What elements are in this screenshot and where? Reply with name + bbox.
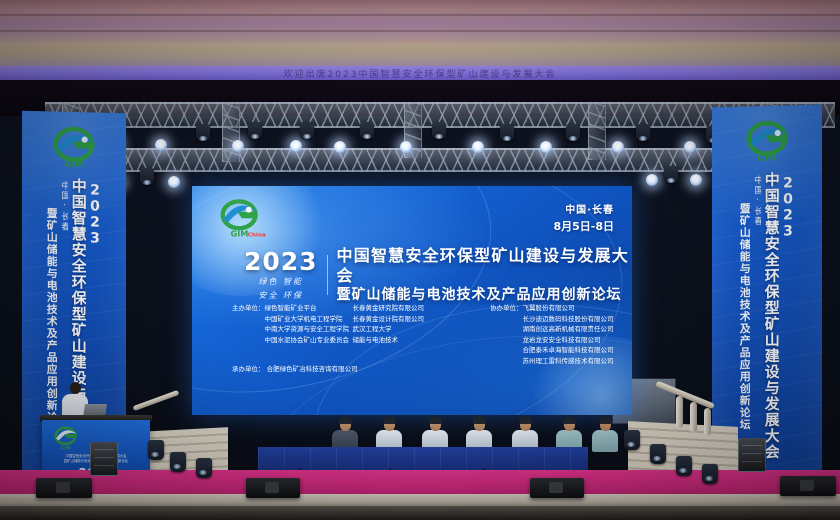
co-item: 长沙迪迈数码科技股份有限公司 [523,314,614,325]
stage-spotlight [400,141,412,153]
stage-spotlight [472,141,484,153]
undertaker-label: 承办单位： [232,365,265,373]
svg-text:GIM: GIM [65,160,84,170]
stage-spotlight [232,140,244,152]
gim-china-logo-icon: GIM China [214,198,266,242]
person-head [520,419,531,431]
undertaker-value: 合肥绿色矿冶科技咨询有限公司 [267,365,358,373]
host-row: 主办单位： 中国水泥协会矿山专业委员会 储能与电池技术 [232,335,439,346]
screen-year-motto-2: 安全 环保 [244,290,318,302]
co-row: 协办单位： 龙岩龙安安全科技有限公司 [490,335,614,346]
stage-spotlight [334,141,346,153]
ceiling-beam [0,46,840,68]
co-item: 飞翼股份有限公司 [523,303,575,314]
host-col1-item: 中国水泥协会矿山专业委员会 [265,335,353,346]
moving-head-light [664,166,678,183]
host-label: 主办单位： [232,303,265,314]
floor-moving-light [650,444,666,464]
moving-head-light [636,124,650,141]
panel-person [592,419,618,452]
stage-spotlight [168,176,180,188]
ceiling-molding-line [0,30,840,32]
person-head [340,419,351,431]
banner-right-year: 2023 [781,171,795,517]
title-divider [327,255,328,295]
floor-moving-light [148,440,164,460]
stage-spotlight [540,141,552,153]
stage-front-shadow [0,506,840,520]
gim-china-logo-icon: GIM [50,426,82,452]
undertaker-row: 承办单位： 合肥绿色矿冶科技咨询有限公司 [232,364,358,375]
floor-monitor-speaker [36,478,92,498]
equipment-road-case [90,442,118,476]
baluster-post [676,396,683,428]
screen-title-line2: 暨矿山储能与电池技术及产品应用创新论坛 [337,286,632,304]
stage-spotlight [646,174,658,186]
stage-spotlight [690,174,702,186]
lighting-truss-middle [60,148,820,172]
co-item: 合肥泰禾卓海智能科技有限公司 [523,345,614,356]
moving-head-light [432,122,446,139]
co-row: 协办单位： 飞翼股份有限公司 [490,303,614,314]
gim-logo-text: GIM [230,228,248,238]
co-item: 龙岩龙安安全科技有限公司 [523,335,601,346]
truss-leg [222,104,240,162]
ceiling-molding-line [0,14,840,16]
moving-head-light [500,124,514,141]
floor-monitor-speaker [246,478,300,498]
person-body [592,430,618,452]
gim-china-logo-icon: GIM [46,125,102,172]
floor-monitor-speaker [530,478,584,498]
person-head [564,419,575,431]
stage-spotlight [290,140,302,152]
host-row: 主办单位： 中国矿业大学机电工程学院 长春黄金设计院有限公司 [232,314,439,325]
host-col2-item: 武汉工程大学 [353,324,439,335]
moving-head-light [566,124,580,141]
moving-head-light [248,122,262,139]
co-row: 协办单位： 合肥泰禾卓海智能科技有限公司 [490,345,614,356]
person-head [474,419,485,431]
host-col2-item: 储能与电池技术 [353,335,439,346]
gim-china-logo-icon: GIM [739,119,795,167]
baluster-post [704,408,711,436]
host-row: 主办单位： 中南大学资源与安全工程学院 武汉工程大学 [232,324,439,335]
svg-text:GIM: GIM [758,154,777,165]
host-organizers: 主办单位： 绿色智能矿业平台 长春黄金研究院有限公司 主办单位： 中国矿业大学机… [232,303,439,345]
host-col1-item: 中国矿业大学机电工程学院 [265,314,353,325]
screen-title-block: 2023 绿色 智能 安全 环保 中国智慧安全环保型矿山建设与发展大会 暨矿山储… [244,246,632,304]
screen-year-block: 2023 绿色 智能 安全 环保 [244,249,327,301]
china-logo-text: China [248,232,266,238]
screen-city: 中国·长春 [553,204,614,219]
screen-year: 2023 [244,249,318,274]
floor-moving-light [196,458,212,478]
stage-spotlight [684,141,696,153]
screen-date: 8月5日-8日 [553,219,614,235]
host-col1-item: 绿色智能矿业平台 [265,303,353,314]
screen-year-motto-1: 绿色 智能 [244,276,318,288]
person-head [384,419,395,431]
screen-title-line1: 中国智慧安全环保型矿山建设与发展大会 [337,246,632,286]
screen-titles: 中国智慧安全环保型矿山建设与发展大会 暨矿山储能与电池技术及产品应用创新论坛 [337,246,632,304]
co-organizers: 协办单位： 飞翼股份有限公司 协办单位： 长沙迪迈数码科技股份有限公司 协办单位… [490,303,614,366]
host-col1-item: 中南大学资源与安全工程学院 [265,324,353,335]
host-row: 主办单位： 绿色智能矿业平台 长春黄金研究院有限公司 [232,303,439,314]
venue-led-text: 欢迎出席2023中国智慧安全环保型矿山建设与发展大会 [0,66,840,80]
main-led-screen: GIM China 中国·长春 8月5日-8日 2023 绿色 智能 安全 环保… [192,186,632,415]
equipment-road-case [738,438,766,472]
host-col2-item: 长春黄金研究院有限公司 [353,303,439,314]
co-item: 苏州理工雷科传感技术有限公司 [523,356,614,367]
conference-stage-photo: 欢迎出席2023中国智慧安全环保型矿山建设与发展大会 [0,0,840,520]
svg-text:GIM: GIM [60,445,71,451]
screen-city-date-block: 中国·长春 8月5日-8日 [553,204,614,234]
co-row: 协办单位： 苏州理工雷科传感技术有限公司 [490,356,614,367]
floor-monitor-speaker [780,476,836,496]
stage-spotlight [155,139,167,151]
floor-moving-light [676,456,692,476]
floor-moving-light [170,452,186,472]
moving-head-light [196,124,210,141]
moving-head-light [360,122,374,139]
co-row: 协办单位： 长沙迪迈数码科技股份有限公司 [490,314,614,325]
stage-spotlight [612,141,624,153]
co-row: 协办单位： 湖南创远高新机械有限责任公司 [490,324,614,335]
moving-head-light [300,122,314,139]
co-label: 协办单位： [490,303,523,314]
moving-head-light [140,168,154,185]
person-head [430,419,441,431]
truss-leg [588,104,606,160]
co-item: 湖南创远高新机械有限责任公司 [523,324,614,335]
floor-moving-light [624,430,640,450]
person-head [70,382,81,394]
person-head [600,419,611,431]
baluster-post [690,402,697,432]
floor-moving-light [702,464,718,484]
host-col2-item: 长春黄金设计院有限公司 [353,314,439,325]
